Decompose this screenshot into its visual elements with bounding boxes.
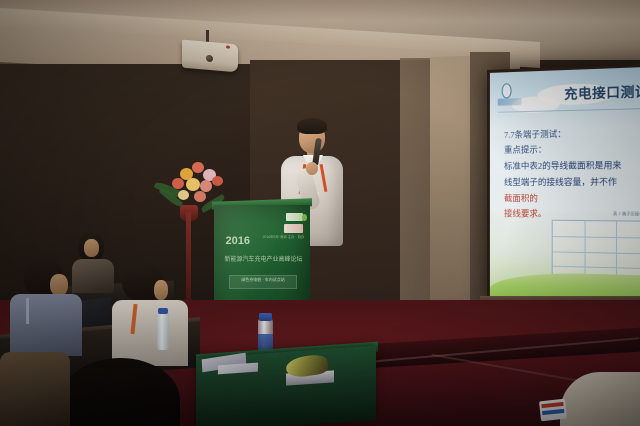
speaker-hand (306, 162, 318, 175)
speaker-hair (297, 118, 327, 134)
attendee-torso (10, 294, 82, 356)
table-card (539, 399, 567, 422)
attendee-torso (72, 259, 114, 293)
flower-icon (192, 162, 204, 173)
flower-icon (186, 178, 200, 191)
flower-icon (194, 191, 206, 202)
projector-indicator-light (226, 45, 230, 48)
attendee-face (50, 274, 68, 296)
card-line (542, 409, 564, 415)
podium-year: 2016 (226, 235, 250, 247)
bottle-cap-icon (259, 313, 272, 321)
flower-icon (200, 180, 212, 192)
sponsor-logo-green-icon (286, 213, 303, 221)
flower-icon (212, 176, 223, 186)
attendee-face (84, 239, 99, 257)
projector-lens-icon (206, 55, 213, 63)
sponsor-logo-dot-icon (302, 214, 307, 221)
flower-icon (172, 178, 184, 189)
slide-surface: 充电接口测试 7.7条端子测试： 重点提示： 标准中表2的导线截面积是用来 线型… (490, 67, 640, 308)
sponsor-logo-red-icon (284, 224, 303, 233)
attendee-torso (0, 352, 70, 426)
attendee-face (154, 280, 168, 300)
water-bottle-left (157, 312, 169, 350)
podium-event-title: 新能源汽车充电产业高峰论坛 (225, 254, 303, 263)
flower-icon (178, 190, 189, 200)
projector-icon (182, 40, 238, 73)
flower-stand (186, 212, 191, 308)
podium-sub-lines: 2016年9月·深圳 主办 · 协办 (263, 235, 305, 240)
microphone-head-icon (312, 133, 322, 143)
screen-glare (490, 67, 640, 308)
podium-banner-text: 绿色充电桩 · 车内试点站 (230, 276, 295, 284)
attendee-torso (112, 300, 188, 366)
podium-banner-strip: 绿色充电桩 · 车内试点站 (229, 275, 296, 289)
card-line (541, 402, 563, 408)
bottle-label (258, 334, 273, 350)
bottle-cap-icon (158, 308, 168, 314)
attendee-lanyard (26, 298, 29, 324)
conference-photo-scene: 充电接口测试 7.7条端子测试： 重点提示： 标准中表2的导线截面积是用来 线型… (0, 0, 640, 426)
projection-screen: 充电接口测试 7.7条端子测试： 重点提示： 标准中表2的导线截面积是用来 线型… (487, 63, 640, 310)
